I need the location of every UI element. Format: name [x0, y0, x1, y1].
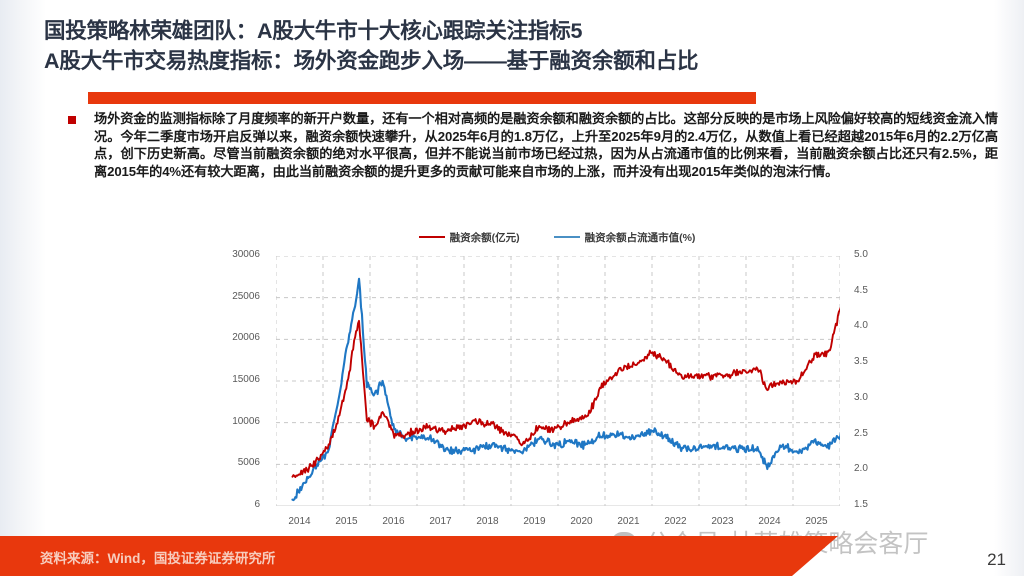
x-tick-2024: 2024	[758, 516, 780, 527]
legend-item-margin-balance: 融资余额(亿元)	[419, 230, 520, 245]
y-tick-right-0: 1.5	[854, 499, 868, 510]
body-paragraph: 场外资金的监测指标除了月度频率的新开户数量，还有一个相对高频的是融资余额和融资余…	[94, 110, 998, 180]
left-edge-shading	[0, 0, 46, 576]
x-tick-2018: 2018	[476, 516, 498, 527]
legend-swatch-red	[419, 236, 445, 239]
y-tick-left-3: 15006	[232, 374, 260, 385]
x-tick-2019: 2019	[523, 516, 545, 527]
x-axis: 2014201520162017201820192020202120222023…	[276, 508, 840, 534]
y-tick-right-5: 4.0	[854, 320, 868, 331]
chart-legend: 融资余额(亿元) 融资余额占流通市值(%)	[212, 226, 902, 248]
y-tick-right-4: 3.5	[854, 356, 868, 367]
series-line-share-of-float	[292, 279, 840, 500]
plot-frame: 650061000615006200062500630006 1.52.02.5…	[212, 256, 902, 506]
x-tick-2023: 2023	[711, 516, 733, 527]
x-tick-2016: 2016	[382, 516, 404, 527]
y-tick-left-0: 6	[254, 499, 260, 510]
legend-label-margin-balance: 融资余额(亿元)	[450, 230, 520, 245]
right-edge-shading	[994, 0, 1024, 576]
slide-title: 国投策略林荣雄团队：A股大牛市十大核心跟踪关注指标5 A股大牛市交易热度指标：场…	[44, 16, 1004, 76]
bullet-square-icon	[68, 116, 76, 124]
legend-label-share-of-float: 融资余额占流通市值(%)	[585, 230, 696, 245]
y-tick-right-6: 4.5	[854, 285, 868, 296]
y-tick-left-2: 10006	[232, 416, 260, 427]
x-tick-2020: 2020	[570, 516, 592, 527]
x-tick-2017: 2017	[429, 516, 451, 527]
y-tick-left-4: 20006	[232, 332, 260, 343]
y-tick-right-2: 2.5	[854, 428, 868, 439]
y-tick-right-1: 2.0	[854, 463, 868, 474]
x-tick-2014: 2014	[288, 516, 310, 527]
y-axis-left: 650061000615006200062500630006	[212, 256, 268, 506]
y-tick-left-5: 25006	[232, 291, 260, 302]
y-tick-right-7: 5.0	[854, 249, 868, 260]
x-tick-2015: 2015	[335, 516, 357, 527]
legend-swatch-blue	[554, 236, 580, 239]
x-tick-2021: 2021	[617, 516, 639, 527]
y-tick-right-3: 3.0	[854, 392, 868, 403]
y-tick-left-6: 30006	[232, 249, 260, 260]
chart-container: 融资余额(亿元) 融资余额占流通市值(%) 650061000615006200…	[212, 226, 902, 536]
y-tick-left-1: 5006	[238, 457, 260, 468]
page-number: 21	[987, 550, 1006, 570]
source-note: 资料来源：Wind，国投证券证券研究所	[40, 547, 275, 567]
x-tick-2022: 2022	[664, 516, 686, 527]
legend-item-share-of-float: 融资余额占流通市值(%)	[554, 230, 696, 245]
title-underline-bar	[88, 92, 756, 104]
y-axis-right: 1.52.02.53.03.54.04.55.0	[846, 256, 902, 506]
x-tick-2025: 2025	[805, 516, 827, 527]
body-bullet: 场外资金的监测指标除了月度频率的新开户数量，还有一个相对高频的是融资余额和融资余…	[68, 110, 998, 180]
title-line-2: A股大牛市交易热度指标：场外资金跑步入场——基于融资余额和占比	[44, 46, 1004, 76]
title-line-1: 国投策略林荣雄团队：A股大牛市十大核心跟踪关注指标5	[44, 16, 1004, 46]
chart-series-layer	[292, 279, 840, 500]
plot-area	[276, 256, 840, 506]
chart-svg	[276, 256, 840, 506]
